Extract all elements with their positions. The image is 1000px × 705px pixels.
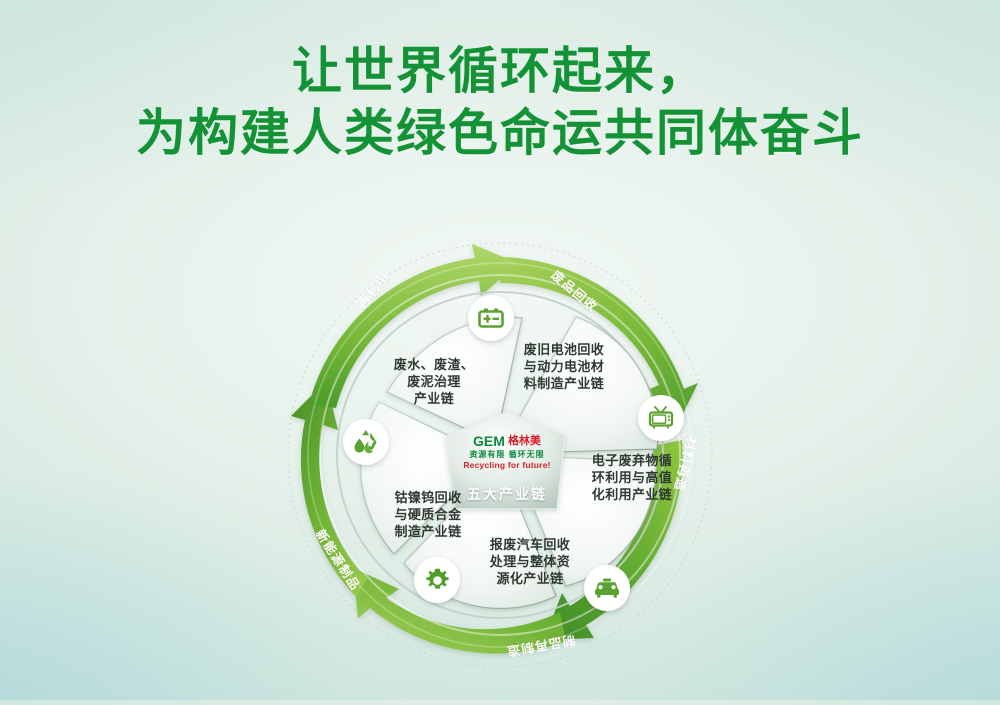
recycle-drop-icon-glyph [352, 429, 380, 455]
tv-icon[interactable] [638, 395, 684, 441]
brand-logo: GEM 格林美 资源有限 循环无限 Recycling for future! [455, 434, 559, 471]
chain-text-water: 废水、废渣、 废泥治理 产业链 [372, 356, 496, 407]
gear-icon[interactable] [414, 557, 460, 603]
brand-logo-row: GEM 格林美 [455, 434, 559, 448]
chain-text-auto: 报废汽车回收 处理与整体资 源化产业链 [468, 536, 592, 587]
ring-arc-new-energy [291, 381, 367, 597]
brand-latin: GEM [473, 434, 505, 448]
gear-icon-glyph [425, 568, 450, 593]
brand-cn: 格林美 [508, 434, 541, 448]
chain-text-ewaste: 电子废弃物循 环利用与高值 化利用产业链 [580, 452, 684, 503]
battery-icon-glyph [478, 307, 504, 329]
cycle-diagram: 废旧电池回收 与动力电池材 料制造产业链 电子废弃物循 环利用与高值 化利用产业… [0, 0, 1000, 700]
battery-icon[interactable] [468, 295, 514, 341]
car-icon-glyph [593, 578, 621, 598]
recycle-drop-icon[interactable] [343, 419, 389, 465]
brand-slogan-cn: 资源有限 循环无限 [455, 449, 559, 460]
tv-icon-glyph [648, 406, 674, 430]
center-subtitle: 五大产业链 [455, 484, 559, 504]
chain-text-battery: 废旧电池回收 与动力电池材 料制造产业链 [498, 341, 630, 392]
brand-slogan-en: Recycling for future! [455, 460, 559, 471]
